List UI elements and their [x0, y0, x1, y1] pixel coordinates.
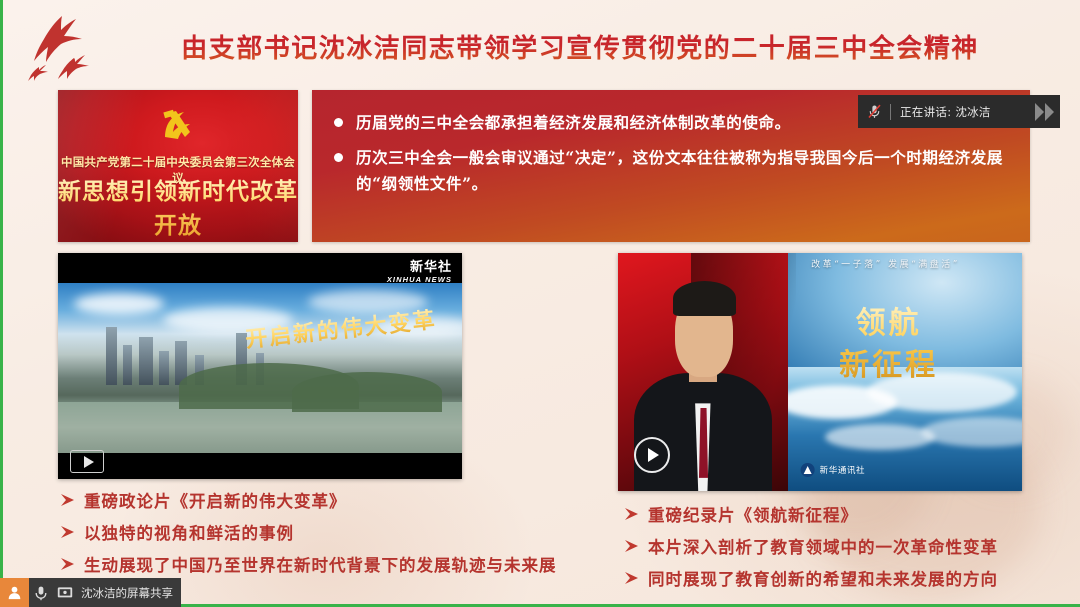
list-item-label: 同时展现了教育创新的希望和未来发展的方向: [648, 566, 998, 593]
list-item: 以独特的视角和鲜活的事例: [58, 520, 558, 547]
arrow-bullet-icon: [58, 552, 78, 576]
arrow-bullet-icon: [622, 566, 642, 590]
xinhua-watermark: 新华社 XINHUA NEWS: [387, 256, 452, 284]
xinhua-agency-logo-text: 新华通讯社: [820, 464, 866, 476]
screen-share-icon[interactable]: [53, 578, 77, 607]
skyline-building: [139, 337, 153, 385]
three-doves-icon: [14, 6, 110, 86]
video-right-headline: 改革“一子落” 发展“满盘活”: [811, 257, 960, 270]
arrow-bullet-icon: [622, 534, 642, 558]
xinhua-agency-logo-icon: 新华通讯社: [801, 463, 866, 477]
participant-icon[interactable]: [0, 578, 29, 607]
list-item-label: 重磅政论片《开启新的伟大变革》: [84, 488, 347, 515]
video-right-title: 领航 新征程: [784, 303, 994, 387]
video-thumbnail-right[interactable]: 改革“一子落” 发展“满盘活” 领航 新征程 新华通讯社: [618, 253, 1022, 491]
cloud: [74, 293, 164, 315]
screen-share-label: 沈冰洁的屏幕共享: [77, 585, 181, 601]
double-chevron-right-icon[interactable]: [1035, 103, 1054, 121]
skyline-building: [106, 327, 117, 385]
active-speaker-overlay[interactable]: 正在讲话: 沈冰洁: [858, 95, 1060, 128]
panel-bullet-row: 历次三中全会一般会审议通过“决定”，这份文本往往被称为指导我国今后一个时期经济发…: [330, 145, 1008, 197]
xinhua-watermark-cn: 新华社: [387, 256, 452, 275]
active-speaker-label: 正在讲话: 沈冰洁: [900, 104, 991, 120]
video-right-title-line1: 领航: [784, 303, 994, 345]
microphone-icon[interactable]: [29, 578, 53, 607]
page-title: 由支部书记沈冰洁同志带领学习宣传贯彻党的二十届三中全会精神: [100, 22, 1060, 70]
list-item: 重磅政论片《开启新的伟大变革》: [58, 488, 558, 515]
video-letterbox-bottom: [58, 453, 462, 479]
panel-bullet-text: 历届党的三中全会都承担着经济发展和经济体制改革的使命。: [356, 110, 791, 136]
list-item: 重磅纪录片《领航新征程》: [622, 502, 1072, 529]
list-item-label: 本片深入剖析了教育领域中的一次革命性变革: [648, 534, 998, 561]
screen-share-statusbar[interactable]: 沈冰洁的屏幕共享: [0, 578, 181, 607]
list-item-label: 重磅纪录片《领航新征程》: [648, 502, 858, 529]
slide-header: 由支部书记沈冰洁同志带领学习宣传贯彻党的二十届三中全会精神: [0, 0, 1080, 88]
arrow-bullet-icon: [622, 502, 642, 526]
greenery: [292, 372, 442, 412]
skyline-building: [159, 351, 169, 385]
video-letterbox-top: 新华社 XINHUA NEWS: [58, 253, 462, 283]
portrait-hair: [673, 281, 736, 316]
wave-crest: [825, 424, 935, 450]
skyline-building: [123, 345, 132, 385]
video-right-title-line2: 新征程: [784, 345, 994, 387]
arrow-bullet-icon: [58, 520, 78, 544]
poster-headline: 新思想引领新时代改革开放: [58, 172, 298, 240]
video-right-scene: 改革“一子落” 发展“满盘活” 领航 新征程 新华通讯社: [618, 253, 1022, 491]
presentation-slide: 由支部书记沈冰洁同志带领学习宣传贯彻党的二十届三中全会精神 中国共产党第二十届中…: [0, 0, 1080, 607]
list-item: 同时展现了教育创新的希望和未来发展的方向: [622, 566, 1072, 593]
arrow-bullet-icon: [58, 488, 78, 512]
conference-poster-card: 中国共产党第二十届中央委员会第三次全体会议 新思想引领新时代改革开放: [58, 90, 298, 242]
video-thumbnail-left[interactable]: 新华社 XINHUA NEWS 开启新的伟大变革: [58, 253, 462, 479]
wave-crest: [921, 417, 1022, 447]
play-button-icon[interactable]: [70, 450, 104, 473]
screen-share-frame-left: [0, 0, 3, 607]
divider: [890, 104, 891, 120]
video-left-scene: 开启新的伟大变革: [58, 283, 462, 453]
bullet-dot-icon: [334, 153, 343, 162]
hammer-sickle-emblem-icon: [156, 104, 200, 148]
mic-muted-icon: [866, 103, 883, 120]
play-button-circle-icon[interactable]: [634, 437, 670, 473]
list-item: 本片深入剖析了教育领域中的一次革命性变革: [622, 534, 1072, 561]
bullet-list-right: 重磅纪录片《领航新征程》 本片深入剖析了教育领域中的一次革命性变革 同时展现了教…: [622, 502, 1072, 598]
list-item-label: 以独特的视角和鲜活的事例: [84, 520, 294, 547]
bullet-dot-icon: [334, 118, 343, 127]
panel-bullet-text: 历次三中全会一般会审议通过“决定”，这份文本往往被称为指导我国今后一个时期经济发…: [356, 145, 1008, 197]
